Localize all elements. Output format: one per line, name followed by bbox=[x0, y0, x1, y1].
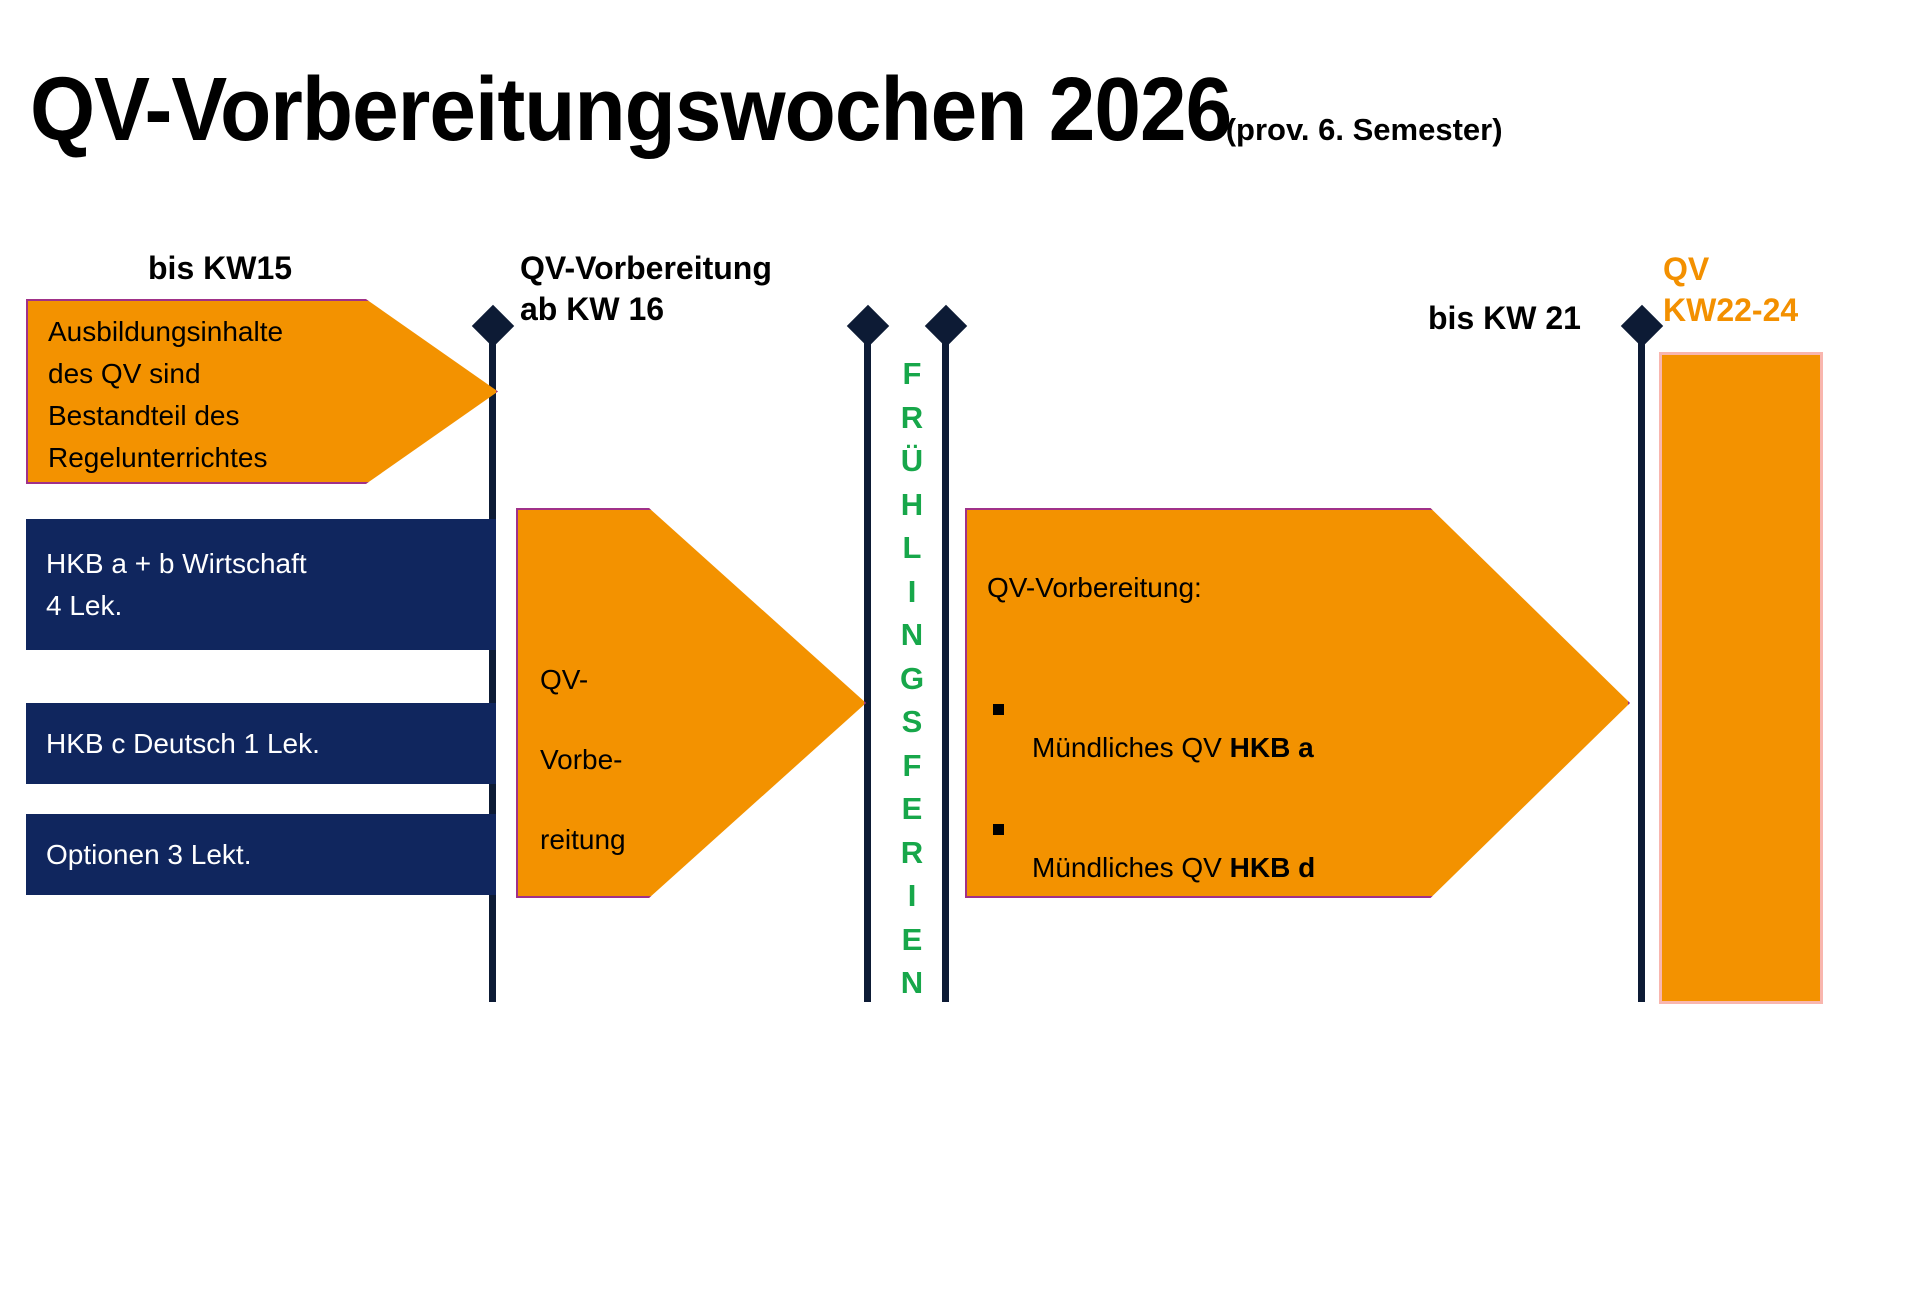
fruehlingsferien-letter: G bbox=[889, 657, 935, 701]
arrow-qv-vorbereitung-main: QV-Vorbereitung: Mündliches QV HKB a Mün… bbox=[965, 508, 1630, 898]
list-item: Mündliches QV HKB d bbox=[987, 808, 1628, 888]
fruehlingsferien-letter: L bbox=[889, 526, 935, 570]
caption-bis-kw15: bis KW15 bbox=[148, 248, 292, 289]
fruehlingsferien-letter: E bbox=[889, 787, 935, 831]
arrow-qv-vorbereitung-hkb-e: QV- Vorbe- reitung HKB e bbox=[516, 508, 866, 898]
fruehlingsferien-letter: I bbox=[889, 874, 935, 918]
bullet-normal-text: Mündliches QV bbox=[1032, 852, 1230, 883]
arrow-ausbildungsinhalte: Ausbildungsinhalte des QV sind Bestandte… bbox=[26, 299, 498, 484]
arrow2-line3: reitung bbox=[540, 820, 864, 860]
fruehlingsferien-letter: H bbox=[889, 483, 935, 527]
arrow3-heading: QV-Vorbereitung: bbox=[987, 568, 1628, 608]
timeline-line-ferien-start bbox=[864, 325, 871, 1002]
page-subtitle: (prov. 6. Semester) bbox=[1226, 113, 1503, 147]
arrow-ausbildungsinhalte-text: Ausbildungsinhalte des QV sind Bestandte… bbox=[48, 311, 496, 479]
arrow2-line1: QV- bbox=[540, 660, 864, 700]
caption-bis-kw21: bis KW 21 bbox=[1428, 298, 1581, 339]
fruehlingsferien-letter: N bbox=[889, 613, 935, 657]
box-optionen-label: Optionen 3 Lekt. bbox=[46, 834, 251, 876]
arrow2-line4: HKB e bbox=[540, 900, 864, 940]
bullet-normal-text: Mündliches QV bbox=[1032, 732, 1230, 763]
caption-qv-kw22-24: QV KW22-24 bbox=[1663, 249, 1798, 331]
caption-qv-vorbereitung-ab-kw16: QV-Vorbereitung ab KW 16 bbox=[520, 248, 772, 330]
arrow-qv-vorbereitung-main-text: QV-Vorbereitung: Mündliches QV HKB a Mün… bbox=[987, 528, 1628, 1316]
list-item: Mündliches QV HKB a bbox=[987, 688, 1628, 768]
fruehlingsferien-letter: Ü bbox=[889, 439, 935, 483]
box-hkb-ab-wirtschaft: HKB a + b Wirtschaft 4 Lek. bbox=[26, 519, 496, 650]
bullet-bold-text: HKB a bbox=[1230, 732, 1314, 763]
slide-canvas: QV-Vorbereitungswochen 2026 (prov. 6. Se… bbox=[0, 0, 1920, 1080]
timeline-line-kw22 bbox=[1638, 325, 1645, 1002]
bullet-bold-text: HKB d bbox=[1230, 852, 1316, 883]
timeline-line-ferien-end bbox=[942, 325, 949, 1002]
box-hkb-c-deutsch: HKB c Deutsch 1 Lek. bbox=[26, 703, 496, 784]
slide-title-row: QV-Vorbereitungswochen 2026 (prov. 6. Se… bbox=[30, 60, 1910, 170]
fruehlingsferien-letter: F bbox=[889, 744, 935, 788]
list-item: schriftliche Fallarbeit HKB b, c, e bbox=[987, 928, 1628, 1048]
box-hkb-ab-wirtschaft-label: HKB a + b Wirtschaft 4 Lek. bbox=[46, 543, 307, 627]
fruehlingsferien-letter: R bbox=[889, 831, 935, 875]
page-title: QV-Vorbereitungswochen 2026 bbox=[30, 60, 1231, 160]
fruehlingsferien-letter: N bbox=[889, 961, 935, 1005]
box-optionen: Optionen 3 Lekt. bbox=[26, 814, 496, 895]
arrow-qv-vorbereitung-hkb-e-text: QV- Vorbe- reitung HKB e bbox=[540, 620, 864, 980]
arrow3-bullet-list: Mündliches QV HKB a Mündliches QV HKB d … bbox=[987, 648, 1628, 1088]
box-hkb-c-deutsch-label: HKB c Deutsch 1 Lek. bbox=[46, 723, 320, 765]
timeline-line-kw16 bbox=[489, 325, 496, 1002]
fruehlingsferien-letter: I bbox=[889, 570, 935, 614]
arrow3-footer-text: Informationen zur digitalen Prüfungsumge… bbox=[987, 1156, 1628, 1276]
fruehlingsferien-letter: E bbox=[889, 918, 935, 962]
arrow2-line2: Vorbe- bbox=[540, 740, 864, 780]
qv-exam-bar bbox=[1659, 352, 1823, 1004]
fruehlingsferien-letter: F bbox=[889, 352, 935, 396]
fruehlingsferien-letter: S bbox=[889, 700, 935, 744]
label-fruehlingsferien: F R Ü H L I N G S F E R I E N bbox=[889, 352, 935, 1005]
bullet-normal-text: schriftliche Fallarbeit HKB b, c, e bbox=[1032, 972, 1314, 1043]
fruehlingsferien-letter: R bbox=[889, 396, 935, 440]
